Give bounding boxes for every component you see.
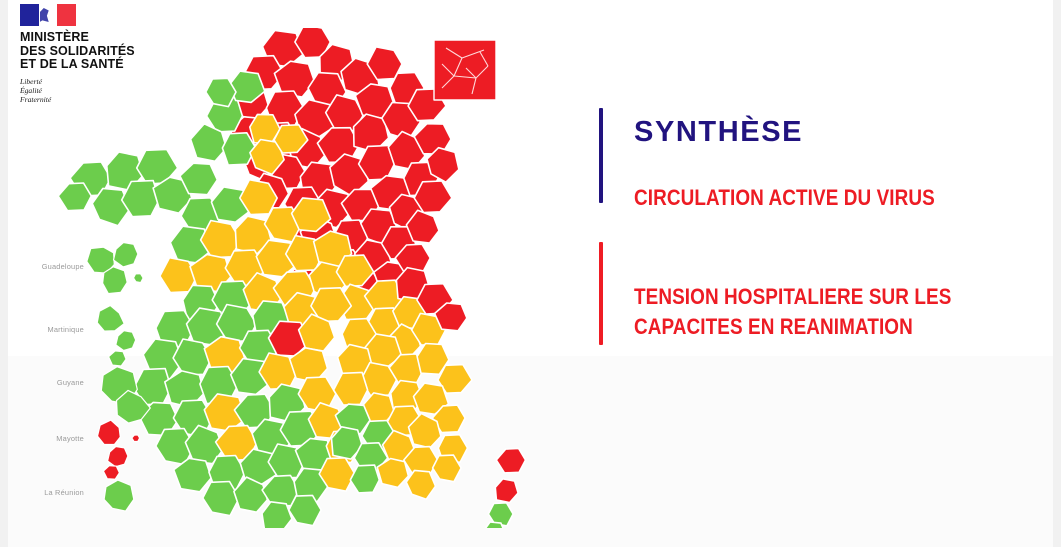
accent-bar-blue xyxy=(599,108,603,203)
synthesis-item-hospital-tension: TENSION HOSPITALIERE SUR LES CAPACITES E… xyxy=(634,282,1061,343)
department-shape xyxy=(114,243,138,267)
synthesis-item-virus-circulation: CIRCULATION ACTIVE DU VIRUS xyxy=(634,186,978,211)
department-shape xyxy=(406,470,435,499)
department-shape xyxy=(334,372,368,405)
dom-shape-la-reunion xyxy=(104,480,134,511)
department-shape xyxy=(132,435,140,442)
dom-shape-martinique xyxy=(97,306,136,367)
department-shape xyxy=(103,267,128,294)
dom-label-martinique: Martinique xyxy=(20,325,84,334)
french-flag-marianne-icon xyxy=(20,4,76,26)
department-shape xyxy=(104,480,134,511)
department-shape xyxy=(58,183,91,211)
dom-label-guyane: Guyane xyxy=(20,378,84,387)
department-shape xyxy=(262,502,292,528)
dom-shape-mayotte xyxy=(98,420,140,479)
dom-label-mayotte: Mayotte xyxy=(20,434,84,443)
slide-root: MINISTÈRE DES SOLIDARITÉS ET DE LA SANTÉ… xyxy=(0,0,1061,547)
department-shape xyxy=(496,449,525,473)
department-shape xyxy=(350,465,379,493)
department-shape xyxy=(103,466,119,480)
department-shape xyxy=(134,274,144,283)
synthesis-title: SYNTHÈSE xyxy=(634,118,803,147)
department-shape xyxy=(97,306,124,332)
dom-shape-guadeloupe xyxy=(87,243,143,294)
department-shape xyxy=(109,351,127,366)
department-shape xyxy=(108,447,128,467)
dom-label-la-reunion: La Réunion xyxy=(20,488,84,497)
map-svg xyxy=(14,28,574,528)
department-shape xyxy=(495,479,518,503)
dom-label-guadeloupe: Guadeloupe xyxy=(20,262,84,271)
ile-de-france-inset xyxy=(434,40,496,100)
department-shape xyxy=(98,420,121,444)
department-shape xyxy=(414,181,452,213)
france-departments-map xyxy=(14,28,574,528)
department-shape xyxy=(116,331,136,351)
accent-bar-red xyxy=(599,242,603,345)
